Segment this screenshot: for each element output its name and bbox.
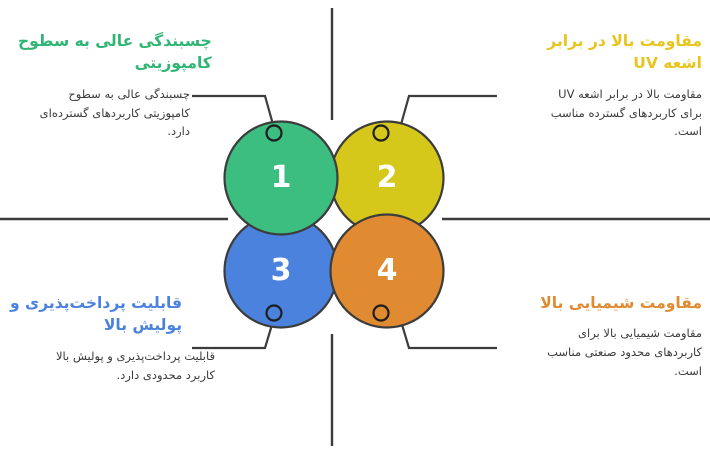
circle-number-3: 3 (261, 256, 301, 286)
infographic-canvas: 1 2 3 4 چسبندگی عالی به سطوح کامپوزیتی چ… (0, 0, 710, 452)
callout-bottom-left: قابلیت پرداخت‌پذیری و پولیش بالا قابلیت … (10, 292, 280, 384)
callout-4-title: مقاومت شیمیایی بالا (540, 292, 702, 314)
callout-1-body: چسبندگی عالی به سطوح کامپوزیتی کاربردهای… (18, 85, 190, 141)
callout-top-right: مقاومت بالا در برابر اشعه UV مقاومت بالا… (470, 30, 702, 141)
callout-2-title: مقاومت بالا در برابر اشعه UV (547, 30, 702, 75)
callout-1-title: چسبندگی عالی به سطوح کامپوزیتی (18, 30, 212, 75)
circle-number-1: 1 (261, 163, 301, 193)
circle-number-2: 2 (367, 163, 407, 193)
callout-3-title: قابلیت پرداخت‌پذیری و پولیش بالا (10, 292, 182, 337)
callout-3-body: قابلیت پرداخت‌پذیری و پولیش بالا کاربرد … (10, 347, 215, 384)
callout-4-body: مقاومت شیمیایی بالا برای کاربردهای محدود… (510, 324, 702, 380)
callout-bottom-right: مقاومت شیمیایی بالا مقاومت شیمیایی بالا … (470, 292, 702, 380)
callout-top-left: چسبندگی عالی به سطوح کامپوزیتی چسبندگی ع… (18, 30, 280, 141)
callout-2-body: مقاومت بالا در برابر اشعه UV برای کاربرد… (516, 85, 702, 141)
circle-number-4: 4 (367, 256, 407, 286)
